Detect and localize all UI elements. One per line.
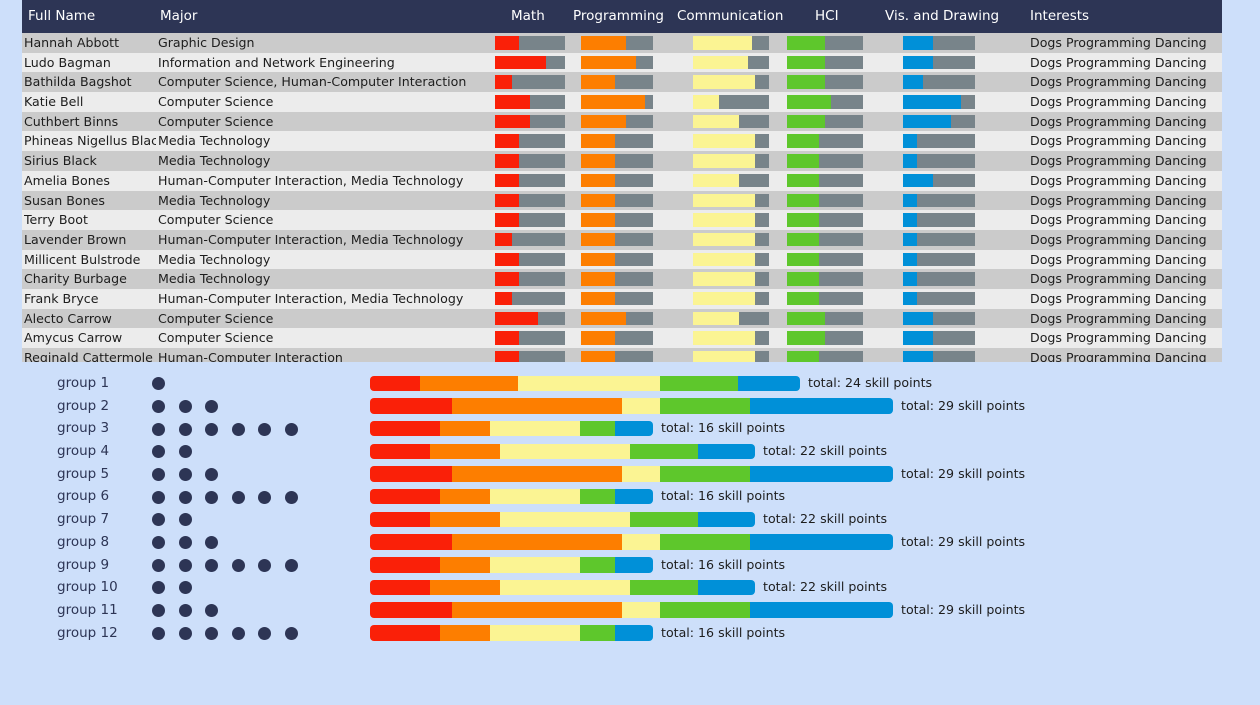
skill-bar-fill-hci: [787, 272, 819, 286]
group-bar-segment-communication: [490, 421, 580, 437]
skill-bar-hci: [787, 253, 863, 267]
cell-full-name: Amycus Carrow: [24, 328, 156, 348]
group-bar-segment-math: [370, 557, 440, 573]
group-row[interactable]: group 3total: 16 skill points: [0, 417, 1260, 440]
member-dot-icon: [258, 559, 271, 572]
cell-interests: Dogs Programming Dancing: [1030, 250, 1222, 270]
skill-bar-fill-math: [495, 134, 519, 148]
group-bar-segment-hci: [580, 557, 615, 573]
group-bar-segment-hci: [580, 421, 615, 437]
group-bar-segment-vis-and-drawing: [698, 512, 755, 528]
cell-full-name: Terry Boot: [24, 210, 156, 230]
group-stacked-bar[interactable]: [370, 398, 893, 414]
cell-interests: Dogs Programming Dancing: [1030, 348, 1222, 362]
member-dot-icon: [152, 627, 165, 640]
group-bar-segment-hci: [660, 534, 750, 550]
skill-bar-fill-programming: [581, 233, 615, 247]
cell-full-name: Lavender Brown: [24, 230, 156, 250]
skill-bar-fill-hci: [787, 194, 819, 208]
cell-interests: Dogs Programming Dancing: [1030, 210, 1222, 230]
skill-bar-fill-hci: [787, 351, 819, 362]
member-dot-icon: [232, 627, 245, 640]
skill-bar-fill-hci: [787, 233, 819, 247]
table-row[interactable]: Amelia BonesHuman-Computer Interaction, …: [22, 171, 1222, 191]
group-bar-segment-vis-and-drawing: [615, 421, 653, 437]
cell-full-name: Charity Burbage: [24, 269, 156, 289]
skill-bar-fill-vis: [903, 95, 961, 109]
cell-major: Computer Science: [158, 92, 510, 112]
skill-bar-fill-hci: [787, 36, 825, 50]
cell-major: Computer Science: [158, 112, 510, 132]
skill-bar-vis: [903, 75, 975, 89]
skill-bar-vis: [903, 213, 975, 227]
skill-bar-hci: [787, 331, 863, 345]
skill-bar-fill-programming: [581, 174, 615, 188]
cell-interests: Dogs Programming Dancing: [1030, 230, 1222, 250]
group-total-label: total: 29 skill points: [901, 599, 1025, 622]
group-total-label: total: 16 skill points: [661, 417, 785, 440]
skill-bar-hci: [787, 233, 863, 247]
skill-bar-math: [495, 36, 565, 50]
skill-bar-programming: [581, 312, 653, 326]
skill-bar-fill-vis: [903, 351, 933, 362]
group-total-label: total: 22 skill points: [763, 576, 887, 599]
skill-bar-hci: [787, 312, 863, 326]
group-stacked-bar[interactable]: [370, 444, 755, 460]
skill-bar-fill-programming: [581, 331, 615, 345]
cell-major: Computer Science: [158, 210, 510, 230]
skill-bar-programming: [581, 56, 653, 70]
group-bar-segment-hci: [660, 602, 750, 618]
member-dot-icon: [152, 423, 165, 436]
member-dot-icon: [205, 423, 218, 436]
skill-bar-math: [495, 233, 565, 247]
skill-bar-fill-communication: [693, 194, 755, 208]
skill-bar-vis: [903, 331, 975, 345]
group-bar-segment-hci: [660, 466, 750, 482]
skill-bar-fill-hci: [787, 253, 819, 267]
group-row[interactable]: group 7total: 22 skill points: [0, 508, 1260, 531]
group-bar-segment-programming: [430, 580, 500, 596]
cell-interests: Dogs Programming Dancing: [1030, 112, 1222, 132]
student-skills-table: Full NameMajorMathProgrammingCommunicati…: [22, 0, 1222, 362]
cell-full-name: Reginald Cattermole: [24, 348, 156, 362]
skill-bar-fill-programming: [581, 351, 615, 362]
skill-bar-communication: [693, 331, 769, 345]
group-label: group 11: [57, 599, 118, 622]
skill-bar-programming: [581, 115, 653, 129]
member-dot-icon: [152, 491, 165, 504]
skill-bar-fill-programming: [581, 312, 626, 326]
group-bar-segment-vis-and-drawing: [750, 398, 893, 414]
group-label: group 6: [57, 485, 109, 508]
group-stacked-bar[interactable]: [370, 580, 755, 596]
table-row[interactable]: Frank BryceHuman-Computer Interaction, M…: [22, 289, 1222, 309]
skill-bar-communication: [693, 253, 769, 267]
skill-bar-programming: [581, 233, 653, 247]
group-row[interactable]: group 10total: 22 skill points: [0, 576, 1260, 599]
skill-bar-fill-math: [495, 154, 519, 168]
skill-bar-math: [495, 154, 565, 168]
member-dot-icon: [179, 491, 192, 504]
member-dot-icon: [179, 445, 192, 458]
skill-bar-vis: [903, 174, 975, 188]
group-bar-segment-vis-and-drawing: [615, 625, 653, 641]
skill-bar-fill-math: [495, 213, 519, 227]
group-bar-segment-math: [370, 580, 430, 596]
skill-bar-fill-math: [495, 351, 519, 362]
skill-bar-fill-hci: [787, 95, 831, 109]
group-stacked-bar[interactable]: [370, 466, 893, 482]
group-label: group 5: [57, 463, 109, 486]
group-row[interactable]: group 12total: 16 skill points: [0, 622, 1260, 645]
group-row[interactable]: group 2total: 29 skill points: [0, 395, 1260, 418]
cell-full-name: Amelia Bones: [24, 171, 156, 191]
skill-bar-programming: [581, 95, 653, 109]
group-row[interactable]: group 9total: 16 skill points: [0, 554, 1260, 577]
skill-bar-fill-programming: [581, 36, 626, 50]
table-row[interactable]: Ludo BagmanInformation and Network Engin…: [22, 53, 1222, 73]
skill-bar-math: [495, 174, 565, 188]
group-bar-segment-programming: [440, 557, 490, 573]
group-row[interactable]: group 8total: 29 skill points: [0, 531, 1260, 554]
skill-bar-fill-communication: [693, 36, 752, 50]
cell-major: Media Technology: [158, 151, 510, 171]
group-row[interactable]: group 1total: 24 skill points: [0, 372, 1260, 395]
skill-bar-fill-vis: [903, 331, 933, 345]
skill-bar-math: [495, 253, 565, 267]
group-bar-segment-communication: [622, 466, 660, 482]
member-dot-icon: [179, 536, 192, 549]
cell-major: Human-Computer Interaction, Media Techno…: [158, 230, 510, 250]
skill-bar-communication: [693, 134, 769, 148]
column-header-major[interactable]: Major: [160, 0, 197, 33]
cell-full-name: Alecto Carrow: [24, 309, 156, 329]
cell-interests: Dogs Programming Dancing: [1030, 171, 1222, 191]
group-bar-segment-communication: [490, 489, 580, 505]
skill-bar-vis: [903, 36, 975, 50]
skill-bar-fill-communication: [693, 95, 719, 109]
group-bar-segment-math: [370, 466, 452, 482]
skill-bar-fill-vis: [903, 233, 917, 247]
member-dot-icon: [205, 536, 218, 549]
skill-bar-hci: [787, 95, 863, 109]
cell-interests: Dogs Programming Dancing: [1030, 92, 1222, 112]
cell-major: Human-Computer Interaction, Media Techno…: [158, 171, 510, 191]
cell-major: Graphic Design: [158, 33, 510, 53]
member-dot-icon: [179, 604, 192, 617]
skill-bar-programming: [581, 75, 653, 89]
cell-major: Media Technology: [158, 131, 510, 151]
skill-bar-fill-vis: [903, 312, 933, 326]
member-dot-icon: [179, 423, 192, 436]
group-bar-segment-programming: [452, 398, 622, 414]
skill-bar-hci: [787, 194, 863, 208]
skill-bar-communication: [693, 272, 769, 286]
group-bar-segment-communication: [622, 398, 660, 414]
group-bar-segment-communication: [518, 376, 660, 392]
skill-bar-fill-hci: [787, 75, 825, 89]
group-row[interactable]: group 11total: 29 skill points: [0, 599, 1260, 622]
table-row[interactable]: Alecto CarrowComputer ScienceDogs Progra…: [22, 309, 1222, 329]
cell-full-name: Bathilda Bagshot: [24, 72, 156, 92]
column-header-name[interactable]: Full Name: [28, 0, 95, 33]
group-bar-segment-vis-and-drawing: [750, 466, 893, 482]
skill-bar-fill-hci: [787, 292, 819, 306]
group-stacked-bar[interactable]: [370, 534, 893, 550]
skill-bar-math: [495, 115, 565, 129]
skill-bar-fill-communication: [693, 292, 755, 306]
skill-bar-fill-math: [495, 272, 519, 286]
skill-bar-hci: [787, 213, 863, 227]
member-dot-icon: [205, 559, 218, 572]
member-dot-icon: [205, 491, 218, 504]
skill-bar-programming: [581, 154, 653, 168]
group-bar-segment-hci: [580, 489, 615, 505]
member-dot-icon: [179, 400, 192, 413]
skill-bar-fill-hci: [787, 174, 819, 188]
group-bar-segment-programming: [452, 466, 622, 482]
table-row[interactable]: Terry BootComputer ScienceDogs Programmi…: [22, 210, 1222, 230]
group-stacked-bar[interactable]: [370, 421, 653, 437]
group-bar-segment-communication: [490, 625, 580, 641]
table-row[interactable]: Lavender BrownHuman-Computer Interaction…: [22, 230, 1222, 250]
table-body: Hannah AbbottGraphic DesignDogs Programm…: [22, 33, 1222, 362]
cell-major: Computer Science: [158, 328, 510, 348]
group-stacked-bar[interactable]: [370, 376, 800, 392]
member-dot-icon: [179, 627, 192, 640]
group-bar-segment-vis-and-drawing: [615, 557, 653, 573]
group-stacked-bar[interactable]: [370, 557, 653, 573]
skill-bar-fill-communication: [693, 174, 739, 188]
group-bar-segment-programming: [440, 489, 490, 505]
group-label: group 2: [57, 395, 109, 418]
skill-bar-fill-communication: [693, 213, 755, 227]
skill-bar-fill-math: [495, 292, 512, 306]
cell-major: Information and Network Engineering: [158, 53, 510, 73]
table-row[interactable]: Susan BonesMedia TechnologyDogs Programm…: [22, 191, 1222, 211]
skill-bar-fill-vis: [903, 36, 933, 50]
group-row[interactable]: group 4total: 22 skill points: [0, 440, 1260, 463]
group-bar-segment-vis-and-drawing: [750, 602, 893, 618]
skill-bar-fill-hci: [787, 56, 825, 70]
skill-bar-fill-communication: [693, 312, 739, 326]
skill-bar-fill-vis: [903, 194, 917, 208]
member-dot-icon: [232, 491, 245, 504]
skill-bar-communication: [693, 312, 769, 326]
skill-bar-math: [495, 56, 565, 70]
skill-bar-vis: [903, 312, 975, 326]
cell-interests: Dogs Programming Dancing: [1030, 289, 1222, 309]
group-stacked-bar[interactable]: [370, 489, 653, 505]
group-bar-segment-programming: [420, 376, 518, 392]
group-bar-segment-programming: [430, 444, 500, 460]
skill-bar-programming: [581, 194, 653, 208]
skill-bar-math: [495, 351, 565, 362]
skill-bar-fill-vis: [903, 272, 917, 286]
group-label: group 3: [57, 417, 109, 440]
skill-bar-fill-hci: [787, 115, 825, 129]
group-stacked-bar[interactable]: [370, 625, 653, 641]
group-stacked-bar[interactable]: [370, 512, 755, 528]
skill-bar-fill-math: [495, 115, 530, 129]
skill-bar-fill-math: [495, 56, 546, 70]
skill-bar-fill-programming: [581, 272, 615, 286]
table-row[interactable]: Bathilda BagshotComputer Science, Human-…: [22, 72, 1222, 92]
group-bar-segment-vis-and-drawing: [698, 580, 755, 596]
member-dot-icon: [152, 445, 165, 458]
member-dot-icon: [285, 491, 298, 504]
cell-full-name: Ludo Bagman: [24, 53, 156, 73]
skill-bar-vis: [903, 194, 975, 208]
group-bar-segment-communication: [622, 602, 660, 618]
skill-bar-math: [495, 194, 565, 208]
skill-bar-hci: [787, 75, 863, 89]
group-row[interactable]: group 5total: 29 skill points: [0, 463, 1260, 486]
table-row[interactable]: Reginald CattermoleHuman-Computer Intera…: [22, 348, 1222, 362]
skill-bar-fill-communication: [693, 115, 739, 129]
group-bar-segment-hci: [660, 398, 750, 414]
cell-major: Media Technology: [158, 250, 510, 270]
skill-bar-communication: [693, 75, 769, 89]
cell-full-name: Katie Bell: [24, 92, 156, 112]
skill-bar-vis: [903, 95, 975, 109]
group-bar-segment-programming: [452, 602, 622, 618]
cell-interests: Dogs Programming Dancing: [1030, 191, 1222, 211]
skill-bar-math: [495, 213, 565, 227]
table-row[interactable]: Millicent BulstrodeMedia TechnologyDogs …: [22, 250, 1222, 270]
table-row[interactable]: Cuthbert BinnsComputer ScienceDogs Progr…: [22, 112, 1222, 132]
skill-bar-fill-communication: [693, 56, 748, 70]
group-bar-segment-communication: [500, 580, 630, 596]
skill-bar-communication: [693, 233, 769, 247]
group-bar-segment-communication: [500, 444, 630, 460]
skill-bar-fill-programming: [581, 194, 615, 208]
member-dot-icon: [285, 627, 298, 640]
skill-bar-fill-math: [495, 253, 519, 267]
group-bar-segment-vis-and-drawing: [615, 489, 653, 505]
member-dot-icon: [179, 559, 192, 572]
cell-interests: Dogs Programming Dancing: [1030, 33, 1222, 53]
skill-bar-communication: [693, 194, 769, 208]
skill-bar-hci: [787, 56, 863, 70]
skill-bar-communication: [693, 56, 769, 70]
skill-bar-fill-math: [495, 194, 519, 208]
skill-bar-vis: [903, 56, 975, 70]
skill-bar-programming: [581, 292, 653, 306]
cell-full-name: Millicent Bulstrode: [24, 250, 156, 270]
cell-major: Human-Computer Interaction: [158, 348, 510, 362]
member-dot-icon: [232, 559, 245, 572]
group-total-label: total: 29 skill points: [901, 463, 1025, 486]
skill-bar-math: [495, 95, 565, 109]
skill-bar-programming: [581, 174, 653, 188]
skill-bar-vis: [903, 134, 975, 148]
table-row[interactable]: Phineas Nigellus BlackMedia TechnologyDo…: [22, 131, 1222, 151]
skill-bar-fill-communication: [693, 233, 755, 247]
group-bar-segment-math: [370, 602, 452, 618]
skill-bar-fill-hci: [787, 213, 819, 227]
skill-bar-fill-programming: [581, 134, 615, 148]
member-dot-icon: [285, 423, 298, 436]
skill-bar-fill-communication: [693, 134, 755, 148]
column-header-communication[interactable]: Communication: [677, 0, 783, 33]
group-total-label: total: 29 skill points: [901, 531, 1025, 554]
skill-bar-vis: [903, 253, 975, 267]
skill-bar-fill-vis: [903, 115, 951, 129]
skill-bar-communication: [693, 95, 769, 109]
skill-bar-fill-programming: [581, 75, 615, 89]
member-dot-icon: [205, 604, 218, 617]
column-header-vis[interactable]: Vis. and Drawing: [885, 0, 999, 33]
skill-bar-fill-vis: [903, 134, 917, 148]
column-header-programming[interactable]: Programming: [573, 0, 664, 33]
group-row[interactable]: group 6total: 16 skill points: [0, 485, 1260, 508]
skill-bar-fill-vis: [903, 213, 917, 227]
skill-bar-hci: [787, 115, 863, 129]
group-bar-segment-hci: [630, 580, 698, 596]
skill-bar-communication: [693, 154, 769, 168]
group-bar-segment-vis-and-drawing: [738, 376, 800, 392]
cell-full-name: Phineas Nigellus Black: [24, 131, 156, 151]
column-header-math[interactable]: Math: [511, 0, 545, 33]
skill-bar-hci: [787, 134, 863, 148]
group-label: group 10: [57, 576, 118, 599]
skill-bar-fill-vis: [903, 174, 933, 188]
cell-interests: Dogs Programming Dancing: [1030, 328, 1222, 348]
table-row[interactable]: Charity BurbageMedia TechnologyDogs Prog…: [22, 269, 1222, 289]
group-bar-segment-programming: [440, 625, 490, 641]
cell-full-name: Susan Bones: [24, 191, 156, 211]
group-bar-segment-hci: [660, 376, 738, 392]
group-bar-segment-communication: [622, 534, 660, 550]
skill-bar-programming: [581, 134, 653, 148]
table-row[interactable]: Katie BellComputer ScienceDogs Programmi…: [22, 92, 1222, 112]
skill-bar-fill-math: [495, 233, 512, 247]
skill-bar-fill-vis: [903, 75, 923, 89]
member-dot-icon: [205, 468, 218, 481]
skill-bar-math: [495, 331, 565, 345]
group-bar-segment-math: [370, 512, 430, 528]
skill-bar-programming: [581, 36, 653, 50]
skill-bar-communication: [693, 174, 769, 188]
table-row[interactable]: Amycus CarrowComputer ScienceDogs Progra…: [22, 328, 1222, 348]
table-row[interactable]: Hannah AbbottGraphic DesignDogs Programm…: [22, 33, 1222, 53]
column-header-interests[interactable]: Interests: [1030, 0, 1089, 33]
skill-bar-hci: [787, 351, 863, 362]
group-total-label: total: 22 skill points: [763, 440, 887, 463]
skill-bar-fill-communication: [693, 154, 755, 168]
table-row[interactable]: Sirius BlackMedia TechnologyDogs Program…: [22, 151, 1222, 171]
skill-bar-fill-programming: [581, 115, 626, 129]
group-stacked-bar[interactable]: [370, 602, 893, 618]
group-bar-segment-hci: [630, 444, 698, 460]
group-bar-segment-vis-and-drawing: [698, 444, 755, 460]
skill-bar-programming: [581, 331, 653, 345]
group-label: group 7: [57, 508, 109, 531]
group-bar-segment-communication: [490, 557, 580, 573]
skill-bar-fill-hci: [787, 134, 819, 148]
skill-bar-fill-communication: [693, 331, 755, 345]
group-label: group 9: [57, 554, 109, 577]
column-header-hci[interactable]: HCI: [815, 0, 839, 33]
member-dot-icon: [179, 513, 192, 526]
group-bar-segment-communication: [500, 512, 630, 528]
group-total-label: total: 16 skill points: [661, 554, 785, 577]
group-bar-segment-math: [370, 421, 440, 437]
skill-bar-fill-communication: [693, 272, 755, 286]
skill-bar-hci: [787, 292, 863, 306]
